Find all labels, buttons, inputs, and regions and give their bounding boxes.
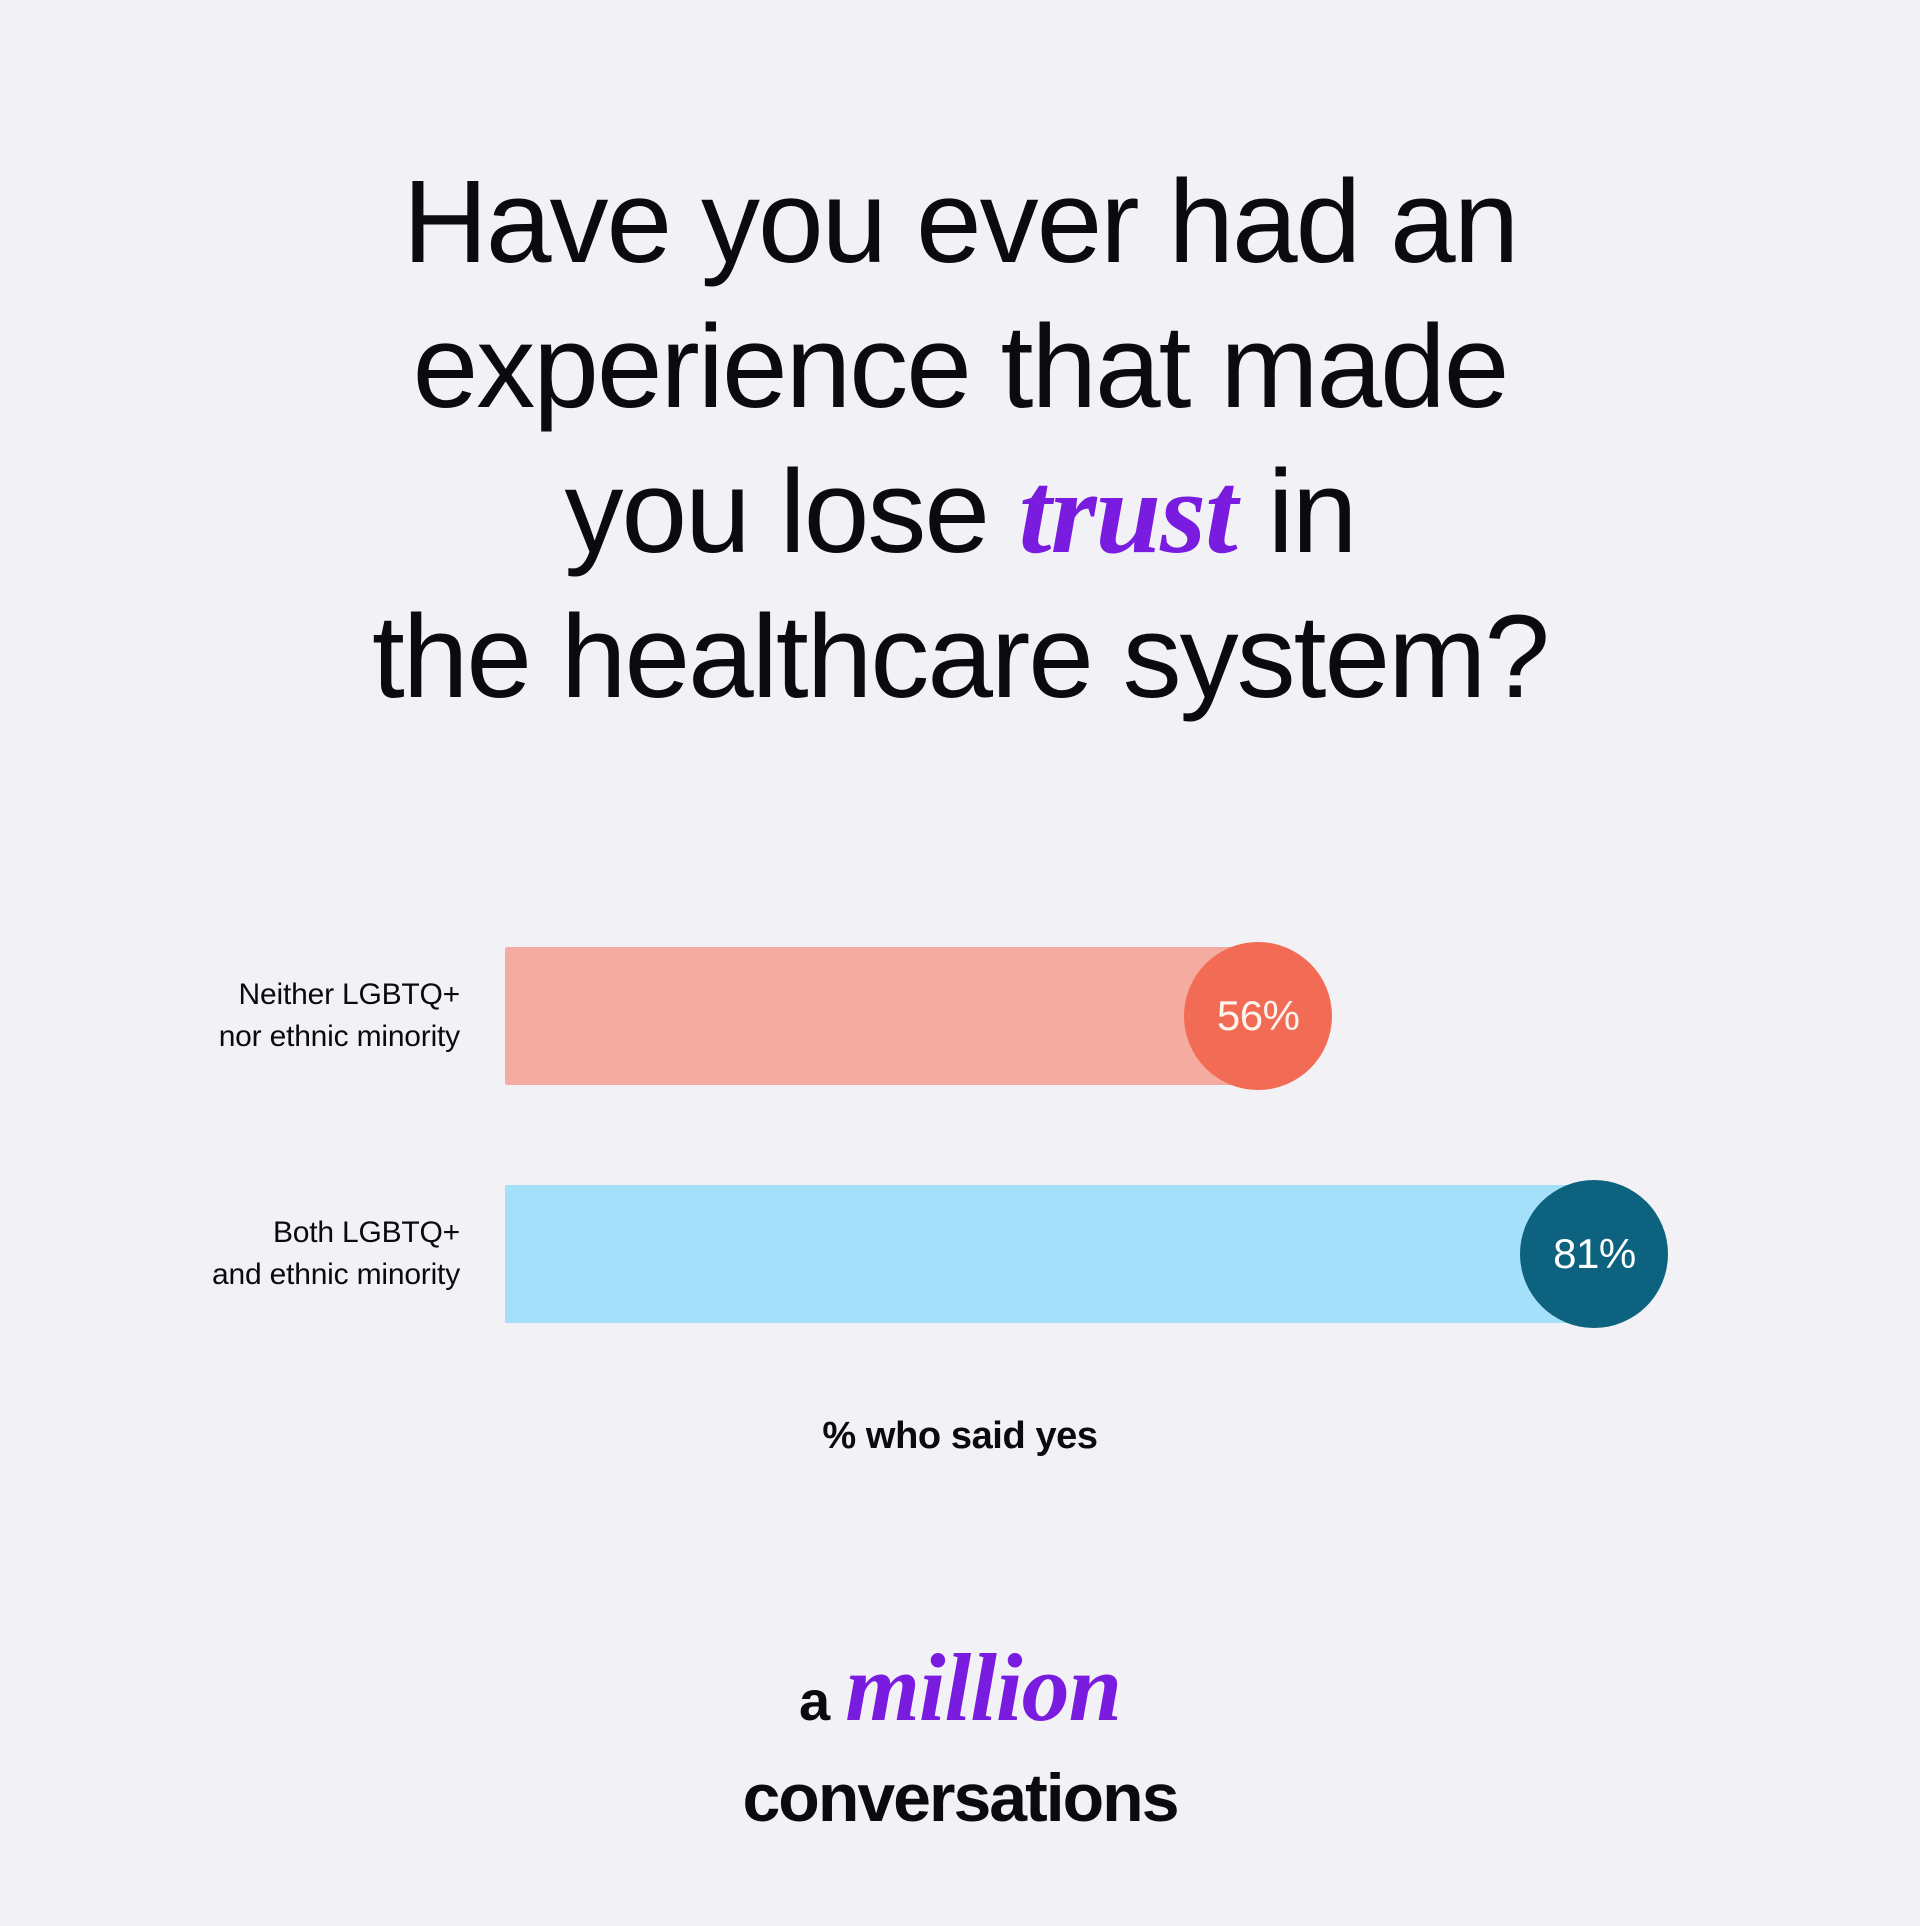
bar-category-label-line1: Neither LGBTQ+ [0, 974, 460, 1016]
bar-category-label: Both LGBTQ+ and ethnic minority [0, 1212, 505, 1296]
bar-category-label-line2: nor ethnic minority [0, 1016, 460, 1058]
bar-chart: Neither LGBTQ+ nor ethnic minority 56% B… [0, 930, 1920, 1270]
title-line-2: experience that made [0, 295, 1920, 440]
bar-category-label-line2: and ethnic minority [0, 1254, 460, 1296]
logo-word-a: a [799, 1669, 829, 1732]
bar-track: 56% [505, 947, 1920, 1085]
bar-fill [505, 947, 1258, 1085]
brand-logo: amillion conversations [0, 1645, 1920, 1837]
infographic-page: { "background_color": "#F2F1F6", "title"… [0, 0, 1920, 1926]
title-line-3: you lose trust in [0, 440, 1920, 585]
title-line-3-suffix: in [1237, 446, 1356, 578]
title-accent-word-trust: trust [1019, 447, 1237, 578]
bar-row: Neither LGBTQ+ nor ethnic minority 56% [0, 947, 1920, 1085]
bar-value-text: 56% [1217, 992, 1300, 1040]
logo-top-row: amillion [0, 1645, 1920, 1759]
bar-row: Both LGBTQ+ and ethnic minority 81% [0, 1185, 1920, 1323]
bar-category-label-line1: Both LGBTQ+ [0, 1212, 460, 1254]
chart-axis-caption: % who said yes [0, 1415, 1920, 1458]
bar-value-text: 81% [1553, 1230, 1636, 1278]
bar-track: 81% [505, 1185, 1920, 1323]
bar-category-label: Neither LGBTQ+ nor ethnic minority [0, 974, 505, 1058]
title-line-4: the healthcare system? [0, 585, 1920, 730]
bar-fill [505, 1185, 1594, 1323]
page-title: Have you ever had an experience that mad… [0, 150, 1920, 730]
bar-value-bubble: 81% [1520, 1180, 1668, 1328]
title-line-3-prefix: you lose [565, 446, 1019, 578]
bar-value-bubble: 56% [1184, 942, 1332, 1090]
logo-word-conversations: conversations [0, 1759, 1920, 1837]
title-line-1: Have you ever had an [0, 150, 1920, 295]
logo-word-million: million [845, 1634, 1121, 1741]
